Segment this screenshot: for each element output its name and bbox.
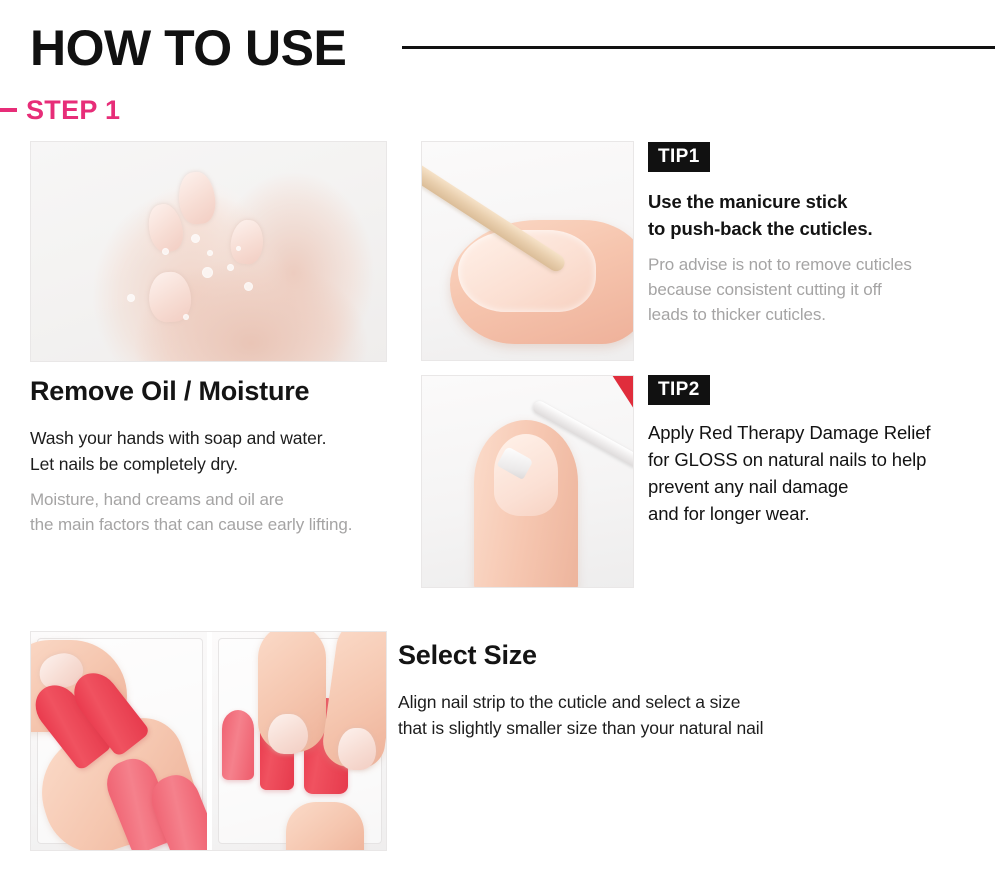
- size-pane-right: [212, 632, 386, 850]
- tip2-badge: TIP2: [648, 375, 710, 405]
- finger-shape: [474, 420, 578, 588]
- tip2-body-text: Apply Red Therapy Damage Relief for GLOS…: [648, 419, 930, 527]
- photo-gloss-brush-on-nail: [421, 375, 634, 588]
- red-bottle-corner-shape: [612, 375, 634, 409]
- remove-oil-heading: Remove Oil / Moisture: [30, 374, 309, 408]
- page-header: HOW TO USE: [0, 0, 1000, 90]
- size-pane-left: [31, 632, 207, 850]
- select-size-body-text: Align nail strip to the cuticle and sele…: [398, 689, 763, 741]
- remove-oil-note-text: Moisture, hand creams and oil are the ma…: [30, 487, 352, 537]
- step-dash-icon: [0, 108, 17, 112]
- step-label: STEP 1: [26, 95, 120, 125]
- page-title: HOW TO USE: [30, 18, 346, 78]
- header-divider-line: [402, 46, 995, 49]
- photo-hands-with-soap: [30, 141, 387, 362]
- select-size-heading: Select Size: [398, 638, 537, 672]
- step-indicator: STEP 1: [0, 92, 120, 128]
- remove-oil-body-text: Wash your hands with soap and water. Let…: [30, 425, 326, 477]
- tip1-note-text: Pro advise is not to remove cuticles bec…: [648, 252, 912, 327]
- tip1-badge: TIP1: [648, 142, 710, 172]
- photo-nail-strip-size-selection: [30, 631, 387, 851]
- tip1-body-text: Use the manicure stick to push-back the …: [648, 188, 873, 242]
- fingertip-shape: [450, 220, 634, 344]
- how-to-use-page: HOW TO USE STEP 1: [0, 0, 1000, 872]
- photo-manicure-stick-pushing-cuticle: [421, 141, 634, 361]
